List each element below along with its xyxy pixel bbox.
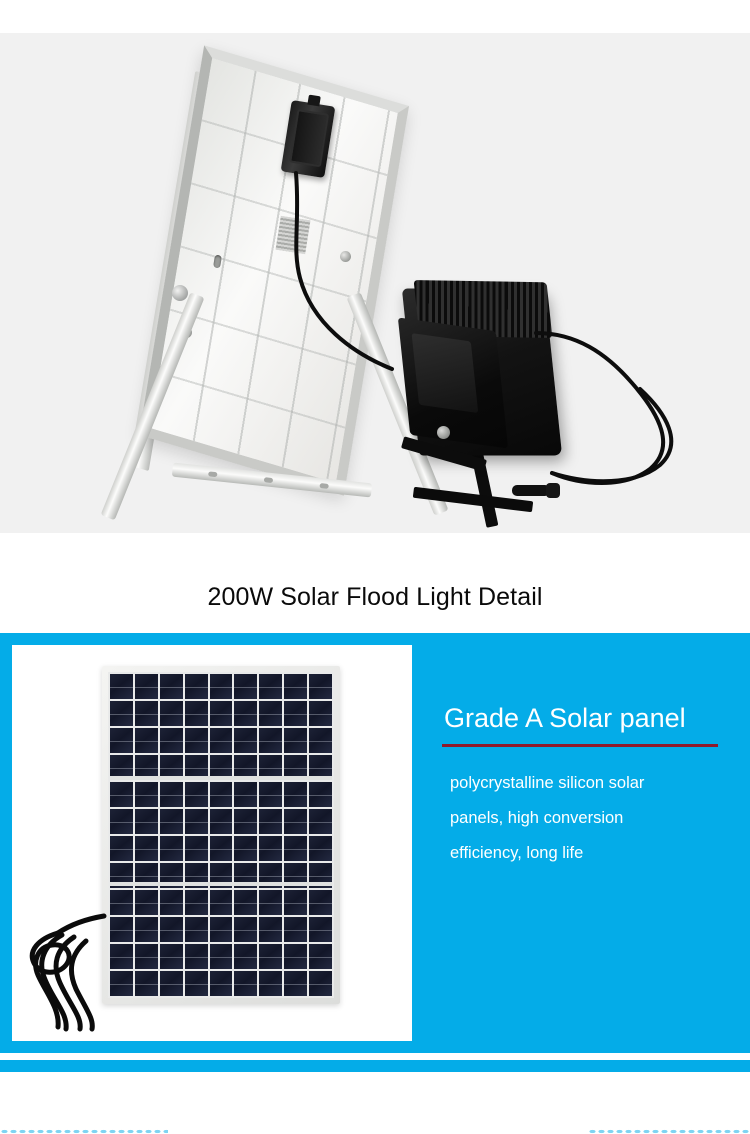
solar-cell [309, 836, 332, 861]
solar-cell [284, 701, 307, 726]
busbar [110, 776, 332, 780]
solar-cell [234, 836, 257, 861]
solar-cell [160, 674, 183, 699]
solar-cell [284, 890, 307, 915]
solar-cell [185, 944, 208, 969]
solar-cell [284, 971, 307, 996]
solar-cell [234, 890, 257, 915]
flood-light-face [398, 317, 508, 448]
page-root: 200W Solar Flood Light Detail [0, 0, 750, 1072]
solar-cell [234, 971, 257, 996]
solar-cell [210, 809, 233, 834]
solar-cell [210, 971, 233, 996]
solar-cell [259, 890, 282, 915]
solar-cell [110, 944, 133, 969]
feature-line-1: polycrystalline silicon solar [450, 766, 732, 801]
heading-underline [442, 744, 718, 747]
solar-cell [309, 674, 332, 699]
solar-cell [160, 782, 183, 807]
solar-cell [309, 809, 332, 834]
solar-cell [135, 944, 158, 969]
solar-cell [210, 701, 233, 726]
solar-cell [135, 971, 158, 996]
solar-cell [259, 836, 282, 861]
solar-cell [160, 728, 183, 753]
solar-cell [135, 917, 158, 942]
solar-cell [185, 701, 208, 726]
solar-cell [210, 782, 233, 807]
solar-cell [234, 782, 257, 807]
solar-cell [160, 836, 183, 861]
feature-line-2: panels, high conversion [450, 801, 732, 836]
solar-cell [259, 944, 282, 969]
solar-cell [110, 917, 133, 942]
solar-cell [234, 809, 257, 834]
solar-cell [160, 890, 183, 915]
solar-cell [309, 782, 332, 807]
solar-cell [284, 917, 307, 942]
flood-light [395, 278, 575, 528]
stand-pivot [172, 285, 188, 301]
section-title: 200W Solar Flood Light Detail [0, 580, 750, 614]
solar-cell [234, 728, 257, 753]
dotted-rule-left [0, 1129, 168, 1134]
solar-cell [259, 809, 282, 834]
solar-cell [259, 917, 282, 942]
solar-cell [135, 674, 158, 699]
feature-heading: Grade A Solar panel [442, 700, 732, 736]
dotted-rule-right [588, 1129, 750, 1134]
feature-line-3: efficiency, long life [450, 836, 732, 871]
solar-cell [135, 809, 158, 834]
solar-cell [185, 836, 208, 861]
feature-description: polycrystalline silicon solar panels, hi… [442, 766, 732, 871]
solar-cell [210, 890, 233, 915]
solar-cell [210, 917, 233, 942]
frame-screw [340, 251, 351, 262]
solar-cell [309, 971, 332, 996]
bracket-foot [413, 487, 533, 513]
panel-spec-label [276, 216, 311, 254]
solar-cell [284, 836, 307, 861]
solar-cell [185, 890, 208, 915]
solar-cell [135, 836, 158, 861]
solar-cell [110, 809, 133, 834]
solar-cell [309, 917, 332, 942]
solar-cell [185, 917, 208, 942]
solar-cell [160, 701, 183, 726]
solar-cell [234, 944, 257, 969]
poly-panel-frame [102, 666, 340, 1004]
solar-cell [309, 944, 332, 969]
solar-cell [135, 701, 158, 726]
solar-cell [309, 701, 332, 726]
solar-cell [284, 728, 307, 753]
solar-cell [185, 971, 208, 996]
solar-cell [210, 836, 233, 861]
solar-cell [160, 917, 183, 942]
solar-cell [210, 728, 233, 753]
solar-cell [234, 917, 257, 942]
solar-cell [135, 728, 158, 753]
adjust-knob [437, 426, 450, 439]
solar-cell [234, 674, 257, 699]
solar-cell [259, 782, 282, 807]
solar-cell [185, 728, 208, 753]
solar-cell [110, 836, 133, 861]
solar-cell [259, 728, 282, 753]
bottom-blue-bar [0, 1060, 750, 1072]
solar-cell [160, 944, 183, 969]
solar-cell [160, 809, 183, 834]
solar-cell [185, 674, 208, 699]
product-hero-photo [0, 33, 750, 533]
solar-cell [110, 782, 133, 807]
solar-cell [309, 890, 332, 915]
solar-cell [210, 944, 233, 969]
solar-cell [110, 674, 133, 699]
feature-text-block: Grade A Solar panel polycrystalline sili… [442, 700, 732, 871]
solar-cell [185, 809, 208, 834]
polycrystalline-panel-photo [12, 645, 412, 1041]
solar-cell [110, 701, 133, 726]
solar-cell [110, 890, 133, 915]
solar-cell [185, 782, 208, 807]
solar-cell [160, 971, 183, 996]
busbar [110, 882, 332, 886]
solar-cell [110, 728, 133, 753]
solar-cell [135, 890, 158, 915]
solar-cell [259, 701, 282, 726]
solar-cell [284, 944, 307, 969]
section-gap [0, 1053, 750, 1060]
panel-backsheet-body [139, 45, 409, 495]
solar-cell [210, 674, 233, 699]
poly-cell-grid [108, 672, 334, 998]
solar-cell [284, 782, 307, 807]
solar-cell [309, 728, 332, 753]
solar-cell [284, 674, 307, 699]
solar-cell [259, 674, 282, 699]
solar-cell [110, 971, 133, 996]
solar-cell [284, 809, 307, 834]
solar-cell [135, 782, 158, 807]
solar-cell [234, 701, 257, 726]
solar-cell [259, 971, 282, 996]
